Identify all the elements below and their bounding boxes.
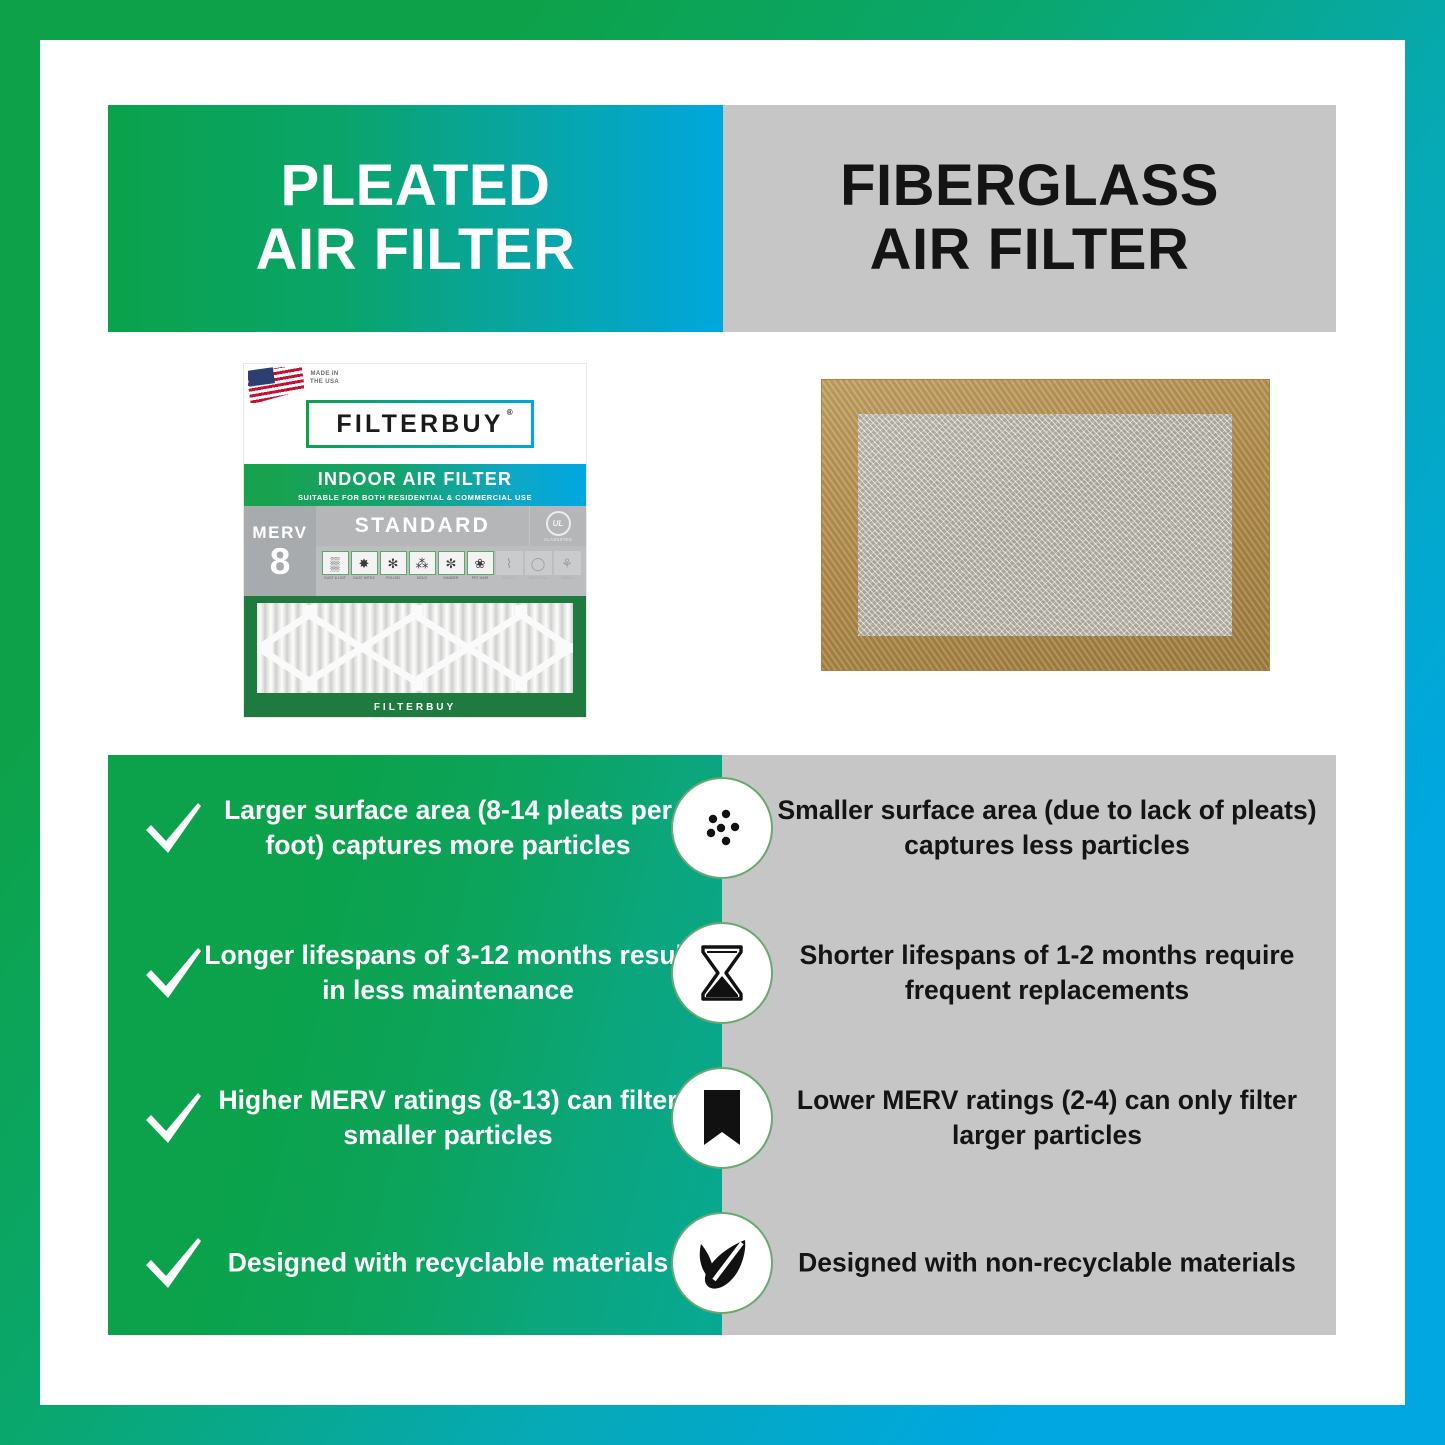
merv-rating-block: MERV 8 <box>244 506 316 596</box>
comparison-row: Designed with recyclable materialsDesign… <box>108 1190 1336 1335</box>
filterbuy-logo: FILTERBUY® <box>306 400 534 448</box>
checkmark-icon <box>142 942 204 1004</box>
pet-dander-icon: ❀PET HAIR <box>467 551 493 581</box>
virus-icon-label: VIRUS <box>562 577 573 581</box>
leaf-icon <box>692 1233 752 1293</box>
pleated-benefit-text: Higher MERV ratings (8-13) can filter sm… <box>204 1082 692 1152</box>
comparison-row: Larger surface area (8-14 pleats per foo… <box>108 755 1336 900</box>
fiberglass-mesh <box>858 414 1232 636</box>
fiberglass-title: FIBERGLASS AIR FILTER <box>723 154 1336 284</box>
ul-circle-icon: UL <box>546 511 571 536</box>
comparison-panel: Larger surface area (8-14 pleats per foo… <box>108 755 1336 1335</box>
pleated-benefit-text: Longer lifespans of 3-12 months result i… <box>204 937 692 1007</box>
checkmark-icon <box>142 1087 204 1149</box>
mold-icon-glyph: ⁂ <box>409 551 436 575</box>
fiberglass-drawback-text: Lower MERV ratings (2-4) can only filter… <box>774 1082 1320 1152</box>
hourglass-icon-badge <box>671 922 773 1024</box>
pleated-benefit-text: Designed with recyclable materials <box>204 1245 692 1280</box>
dust-lint-icon-glyph: ▒ <box>322 551 349 575</box>
merv-value: 8 <box>270 544 291 579</box>
package-header: MADE IN THE USA FILTERBUY® <box>244 364 586 464</box>
dander-icon-label: DANDER <box>444 577 459 581</box>
particles-icon <box>691 797 753 859</box>
fiberglass-drawback-text: Designed with non-recyclable materials <box>774 1245 1320 1280</box>
pollen-icon-glyph: ✻ <box>380 551 407 575</box>
header-right-fiberglass: FIBERGLASS AIR FILTER <box>723 105 1336 332</box>
dust-lint-icon: ▒DUST & LINT <box>322 551 348 581</box>
mold-icon: ⁂MOLD <box>409 551 435 581</box>
product-images-row: MADE IN THE USA FILTERBUY® INDOOR AIR FI… <box>108 332 1336 754</box>
trademark-icon: ® <box>507 408 513 417</box>
package-gradient-band: INDOOR AIR FILTER SUITABLE FOR BOTH RESI… <box>244 464 586 506</box>
pollen-icon-label: POLLEN <box>386 577 400 581</box>
comparison-rows: Larger surface area (8-14 pleats per foo… <box>108 755 1336 1335</box>
bacteria-icon: ◯BACTERIA <box>525 551 551 581</box>
bookmark-icon <box>699 1087 745 1149</box>
checkmark-icon <box>142 1232 204 1294</box>
package-footer-brand: FILTERBUY <box>244 702 586 713</box>
suitable-for-use-label: SUITABLE FOR BOTH RESIDENTIAL & COMMERCI… <box>298 493 532 502</box>
leaf-icon-badge <box>671 1212 773 1314</box>
dust-lint-icon-label: DUST & LINT <box>324 577 346 581</box>
ul-certification-mark: UL CLASSIFIED <box>529 506 586 546</box>
ul-sub-label: CLASSIFIED <box>544 537 572 542</box>
virus-icon: ⚘VIRUS <box>554 551 580 581</box>
grade-label: STANDARD <box>316 514 529 538</box>
comparison-row: Longer lifespans of 3-12 months result i… <box>108 900 1336 1045</box>
pleated-filter-package-image: MADE IN THE USA FILTERBUY® INDOOR AIR FI… <box>244 364 586 717</box>
smoke-icon-label: SMOKE <box>503 577 516 581</box>
mold-icon-label: MOLD <box>417 577 427 581</box>
grade-row: STANDARD UL CLASSIFIED <box>316 506 586 546</box>
pollen-icon: ✻POLLEN <box>380 551 406 581</box>
smoke-icon: ⌇SMOKE <box>496 551 522 581</box>
smoke-icon-glyph: ⌇ <box>496 551 523 575</box>
merv-word: MERV <box>252 523 307 543</box>
pleat-support-grid <box>257 603 573 693</box>
fiberglass-filter-image <box>822 380 1269 670</box>
pet-dander-icon-glyph: ❀ <box>467 551 494 575</box>
indoor-air-filter-label: INDOOR AIR FILTER <box>318 469 512 490</box>
dust-mites-icon-glyph: ✸ <box>351 551 378 575</box>
capability-icons-strip: ▒DUST & LINT✸DUST MITES✻POLLEN⁂MOLD✼DAND… <box>316 546 586 596</box>
dust-mites-icon: ✸DUST MITES <box>351 551 377 581</box>
comparison-row: Higher MERV ratings (8-13) can filter sm… <box>108 1045 1336 1190</box>
bacteria-icon-glyph: ◯ <box>525 551 552 575</box>
hourglass-icon <box>693 942 751 1004</box>
dust-mites-icon-label: DUST MITES <box>353 577 374 581</box>
pleat-texture <box>257 603 573 693</box>
made-in-usa-label: MADE IN THE USA <box>310 370 339 386</box>
pleated-media-photo: FILTERBUY <box>244 596 586 717</box>
pet-dander-icon-label: PET HAIR <box>472 577 488 581</box>
virus-icon-glyph: ⚘ <box>554 551 581 575</box>
filterbuy-logo-text: FILTERBUY® <box>336 410 503 439</box>
header-left-pleated: PLEATED AIR FILTER <box>108 105 723 332</box>
package-spec-area: MERV 8 STANDARD UL CLASSIFIED ▒DUST & LI… <box>244 506 586 596</box>
dander-icon: ✼DANDER <box>438 551 464 581</box>
pleated-benefit-text: Larger surface area (8-14 pleats per foo… <box>204 792 692 862</box>
particles-icon-badge <box>671 777 773 879</box>
bookmark-icon-badge <box>671 1067 773 1169</box>
fiberglass-drawback-text: Smaller surface area (due to lack of ple… <box>774 792 1320 862</box>
checkmark-icon <box>142 797 204 859</box>
pleated-title: PLEATED AIR FILTER <box>108 154 723 284</box>
bacteria-icon-label: BACTERIA <box>529 577 547 581</box>
dander-icon-glyph: ✼ <box>438 551 465 575</box>
fiberglass-drawback-text: Shorter lifespans of 1-2 months require … <box>774 937 1320 1007</box>
header-band: PLEATED AIR FILTER FIBERGLASS AIR FILTER <box>108 105 1336 332</box>
usa-flag-icon <box>248 367 304 403</box>
